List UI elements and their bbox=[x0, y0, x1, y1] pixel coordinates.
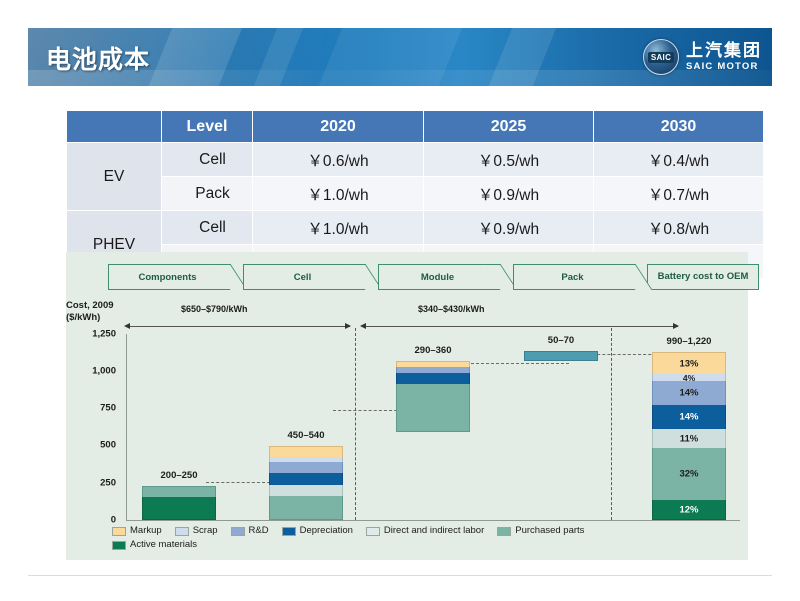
range-annotation-1: $650–$790/kWh bbox=[181, 304, 248, 314]
bar-module: 290–360 bbox=[396, 361, 470, 432]
chart-legend: Markup Scrap R&D Depreciation Direct and… bbox=[112, 524, 742, 553]
column-header-2025: 2025 bbox=[424, 111, 594, 143]
legend-label: Active materials bbox=[130, 538, 197, 552]
segment-percent-markup: 13% bbox=[653, 358, 725, 369]
segment-percent-purchased-parts: 32% bbox=[653, 469, 725, 480]
cell-value: ￥0.7/wh bbox=[594, 177, 764, 211]
range-line-2 bbox=[362, 326, 678, 327]
legend-label: Direct and indirect labor bbox=[384, 524, 484, 538]
legend-row-1: Markup Scrap R&D Depreciation Direct and… bbox=[112, 524, 742, 538]
legend-swatch-icon bbox=[282, 527, 296, 536]
bar-cell: 450–540 bbox=[269, 446, 343, 520]
table-header-row: Level 2020 2025 2030 bbox=[67, 111, 764, 143]
flow-step-cell: Cell bbox=[243, 264, 361, 290]
legend-item-markup: Markup bbox=[112, 524, 162, 538]
column-header-2030: 2030 bbox=[594, 111, 764, 143]
bar-components: 200–250 bbox=[142, 486, 216, 520]
column-header-blank bbox=[67, 111, 162, 143]
saic-logo: SAIC 上汽集团 SAIC MOTOR bbox=[643, 37, 762, 77]
logo-name-cn: 上汽集团 bbox=[686, 42, 762, 59]
segment-active-materials bbox=[142, 497, 216, 520]
y-tick-750: 750 bbox=[74, 403, 116, 414]
legend-row-2: Active materials bbox=[112, 538, 742, 552]
logo-name-en: SAIC MOTOR bbox=[686, 62, 762, 72]
process-flow: Components Cell Module Pack Battery cost… bbox=[108, 264, 759, 290]
legend-label: Markup bbox=[130, 524, 162, 538]
cell-value: ￥0.9/wh bbox=[424, 211, 594, 245]
range-arrow-right-1 bbox=[345, 323, 351, 329]
cell-value: ￥0.5/wh bbox=[424, 143, 594, 177]
legend-swatch-icon bbox=[112, 527, 126, 536]
row-level: Cell bbox=[162, 143, 253, 177]
cell-value: ￥1.0/wh bbox=[253, 177, 424, 211]
segment-direct-labor: 11% bbox=[652, 429, 726, 448]
legend-swatch-icon bbox=[366, 527, 380, 536]
y-axis-title-line1: Cost, 2009 bbox=[66, 300, 114, 312]
page-title: 电池成本 bbox=[46, 40, 150, 76]
bar-label-pack: 50–70 bbox=[548, 335, 574, 346]
legend-swatch-icon bbox=[112, 541, 126, 550]
segment-purchased-parts: 32% bbox=[652, 448, 726, 500]
y-axis-title: Cost, 2009 ($/kWh) bbox=[66, 300, 114, 324]
flow-step-components: Components bbox=[108, 264, 226, 290]
legend-item-rd: R&D bbox=[231, 524, 269, 538]
legend-label: Depreciation bbox=[300, 524, 353, 538]
y-axis-title-line2: ($/kWh) bbox=[66, 312, 114, 324]
legend-swatch-icon bbox=[497, 527, 511, 536]
range-line-1 bbox=[126, 326, 350, 327]
flow-step-pack: Pack bbox=[513, 264, 631, 290]
cell-value: ￥1.0/wh bbox=[253, 211, 424, 245]
segment-markup: 13% bbox=[652, 352, 726, 374]
segment-direct-labor bbox=[269, 485, 343, 496]
bar-label-components: 200–250 bbox=[161, 470, 198, 481]
segment-active-materials: 12% bbox=[652, 500, 726, 520]
legend-label: R&D bbox=[249, 524, 269, 538]
flow-step-battery-cost-to-oem: Battery cost to OEM bbox=[647, 264, 759, 290]
cell-value: ￥0.8/wh bbox=[594, 211, 764, 245]
column-header-2020: 2020 bbox=[253, 111, 424, 143]
bar-label-cell: 450–540 bbox=[288, 430, 325, 441]
legend-label: Purchased parts bbox=[515, 524, 584, 538]
legend-item-direct-labor: Direct and indirect labor bbox=[366, 524, 484, 538]
row-level: Pack bbox=[162, 177, 253, 211]
y-tick-1000: 1,000 bbox=[74, 366, 116, 377]
segment-percent-rd: 14% bbox=[653, 388, 725, 399]
legend-item-active-materials: Active materials bbox=[112, 538, 197, 552]
table-row: EV Cell ￥0.6/wh ￥0.5/wh ￥0.4/wh bbox=[67, 143, 764, 177]
bar-battery-cost-to-oem: 990–1,220 13% 4% 14% 14% 11% 32% 12% bbox=[652, 352, 726, 520]
y-tick-500: 500 bbox=[74, 440, 116, 451]
y-tick-250: 250 bbox=[74, 478, 116, 489]
segment-purchased-parts bbox=[142, 486, 216, 497]
legend-item-depreciation: Depreciation bbox=[282, 524, 353, 538]
segment-depreciation bbox=[396, 373, 470, 384]
legend-swatch-icon bbox=[175, 527, 189, 536]
table-row: Pack ￥1.0/wh ￥0.9/wh ￥0.7/wh bbox=[67, 177, 764, 211]
bar-label-battery-cost: 990–1,220 bbox=[667, 336, 712, 347]
segment-pack-cost bbox=[524, 351, 598, 361]
segment-purchased-parts bbox=[269, 496, 343, 520]
battery-cost-chart: Components Cell Module Pack Battery cost… bbox=[66, 252, 748, 560]
segment-purchased-parts bbox=[396, 384, 470, 432]
page-banner: 电池成本 SAIC 上汽集团 SAIC MOTOR bbox=[28, 28, 772, 86]
segment-depreciation bbox=[269, 473, 343, 485]
segment-rd: 14% bbox=[652, 381, 726, 405]
segment-depreciation: 14% bbox=[652, 405, 726, 429]
y-tick-0: 0 bbox=[74, 515, 116, 526]
range-annotation-2: $340–$430/kWh bbox=[418, 304, 485, 314]
legend-item-purchased-parts: Purchased parts bbox=[497, 524, 584, 538]
row-category-ev: EV bbox=[67, 143, 162, 211]
cell-value: ￥0.6/wh bbox=[253, 143, 424, 177]
cell-value: ￥0.4/wh bbox=[594, 143, 764, 177]
legend-label: Scrap bbox=[193, 524, 218, 538]
segment-markup bbox=[269, 446, 343, 457]
x-axis-line bbox=[126, 520, 740, 521]
connector-3 bbox=[461, 363, 569, 364]
segment-scrap: 4% bbox=[652, 374, 726, 381]
saic-emblem-text: SAIC bbox=[648, 52, 674, 63]
segment-rd bbox=[269, 462, 343, 473]
segment-percent-depreciation: 14% bbox=[653, 412, 725, 423]
range-arrow-left-1 bbox=[124, 323, 130, 329]
saic-emblem-icon: SAIC bbox=[643, 39, 679, 75]
cell-value: ￥0.9/wh bbox=[424, 177, 594, 211]
bar-pack: 50–70 bbox=[524, 351, 598, 361]
flow-step-module: Module bbox=[378, 264, 496, 290]
footer-divider bbox=[28, 575, 772, 576]
plot-area: 200–250 450–540 290–360 50–70 bbox=[128, 334, 740, 520]
segment-percent-direct-labor: 11% bbox=[653, 433, 725, 444]
legend-swatch-icon bbox=[231, 527, 245, 536]
legend-item-scrap: Scrap bbox=[175, 524, 218, 538]
y-tick-1250: 1,250 bbox=[74, 329, 116, 340]
segment-percent-active-materials: 12% bbox=[653, 504, 725, 515]
row-level: Cell bbox=[162, 211, 253, 245]
table-row: PHEV Cell ￥1.0/wh ￥0.9/wh ￥0.8/wh bbox=[67, 211, 764, 245]
column-header-level: Level bbox=[162, 111, 253, 143]
range-arrow-left-2 bbox=[360, 323, 366, 329]
range-arrow-right-2 bbox=[673, 323, 679, 329]
bar-label-module: 290–360 bbox=[415, 345, 452, 356]
